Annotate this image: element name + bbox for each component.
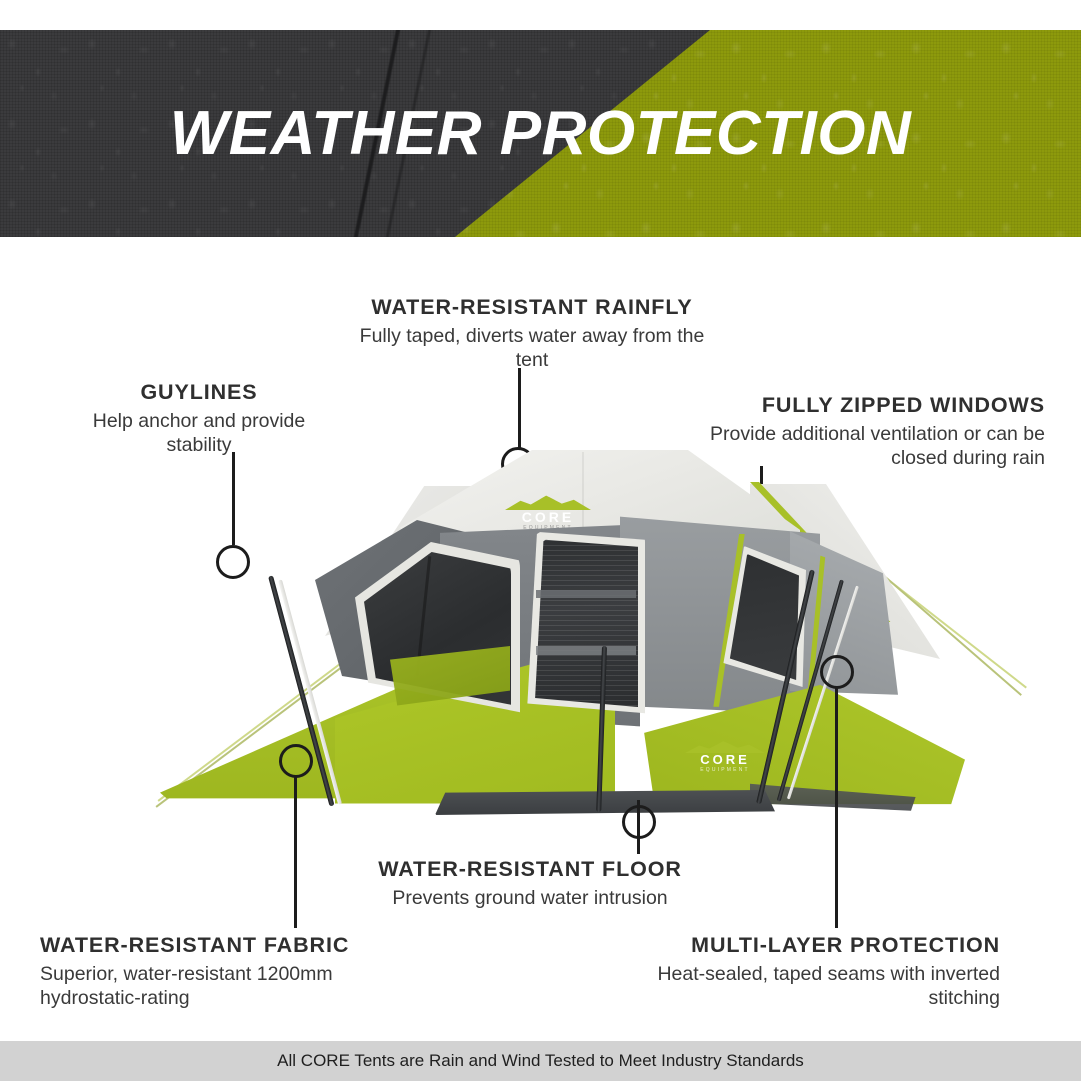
brand-tagline: EQUIPMENT — [685, 767, 765, 773]
callout-water-resistant-fabric: WATER-RESISTANT FABRIC Superior, water-r… — [40, 932, 380, 1011]
tent-window-front-panel-bar — [536, 590, 636, 598]
callout-water-resistant-rainfly: WATER-RESISTANT RAINFLY Fully taped, div… — [318, 294, 746, 373]
tent-floor-front — [435, 790, 775, 816]
brand-name: CORE — [685, 753, 765, 767]
leader-line-rainfly — [518, 368, 521, 450]
leader-line-fabric — [294, 776, 297, 928]
marker-circle-fabric — [279, 744, 313, 778]
header-banner: WEATHER PROTECTION — [0, 30, 1081, 237]
mountain-icon — [685, 740, 765, 753]
mountain-icon — [505, 494, 591, 510]
core-logo-roof: CORE EQUIPMENT — [505, 494, 591, 531]
callout-water-resistant-floor: WATER-RESISTANT FLOOR Prevents ground wa… — [350, 856, 710, 910]
brand-name: CORE — [505, 510, 591, 525]
tent-window-front-panel-bar-lower — [536, 646, 636, 655]
callout-multi-layer-protection: MULTI-LAYER PROTECTION Heat-sealed, tape… — [655, 932, 1000, 1011]
callout-title: MULTI-LAYER PROTECTION — [655, 932, 1000, 960]
callout-description: Superior, water-resistant 1200mm hydrost… — [40, 962, 380, 1012]
callout-title: WATER-RESISTANT RAINFLY — [318, 294, 746, 322]
footer-bar: All CORE Tents are Rain and Wind Tested … — [0, 1041, 1081, 1081]
marker-circle-multi-layer — [820, 655, 854, 689]
tent-product-image: CORE EQUIPMENT CORE — [150, 450, 940, 820]
infographic-page: WEATHER PROTECTION WATER-RESISTANT RAINF… — [0, 0, 1081, 1081]
callout-title: FULLY ZIPPED WINDOWS — [700, 392, 1045, 420]
callout-title: WATER-RESISTANT FLOOR — [350, 856, 710, 884]
callout-title: GUYLINES — [72, 379, 326, 407]
callout-guylines: GUYLINES Help anchor and provide stabili… — [72, 379, 326, 458]
footer-text: All CORE Tents are Rain and Wind Tested … — [277, 1051, 804, 1071]
callout-title: WATER-RESISTANT FABRIC — [40, 932, 380, 960]
leader-line-multi-layer — [835, 687, 838, 928]
callout-description: Fully taped, diverts water away from the… — [318, 324, 746, 374]
callout-description: Prevents ground water intrusion — [350, 886, 710, 911]
core-logo-side: CORE EQUIPMENT — [685, 740, 765, 773]
page-title: WEATHER PROTECTION — [0, 30, 1081, 237]
tent-window-front-mesh — [533, 536, 638, 716]
leader-line-floor — [637, 800, 640, 854]
callout-description: Heat-sealed, taped seams with inverted s… — [655, 962, 1000, 1012]
